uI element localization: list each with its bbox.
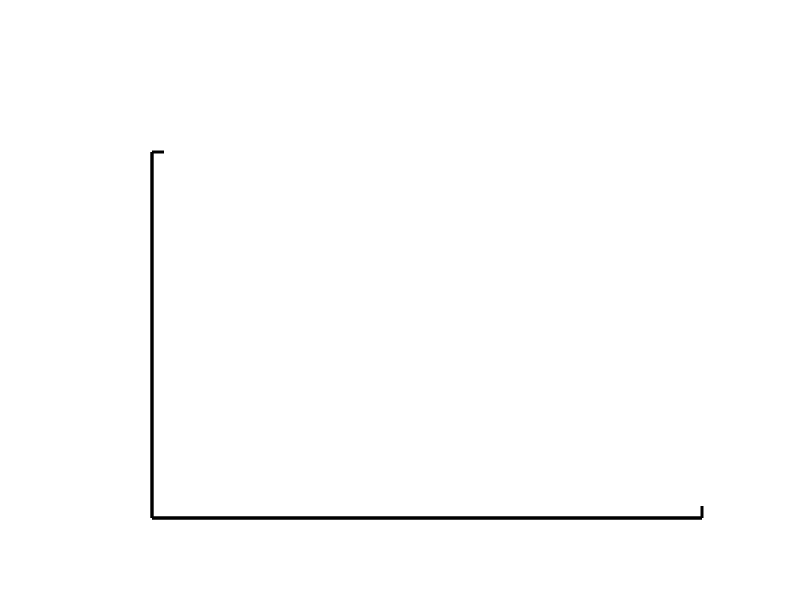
chart-figure (0, 0, 800, 600)
axis-lines (152, 152, 702, 518)
plot-area (0, 0, 800, 600)
